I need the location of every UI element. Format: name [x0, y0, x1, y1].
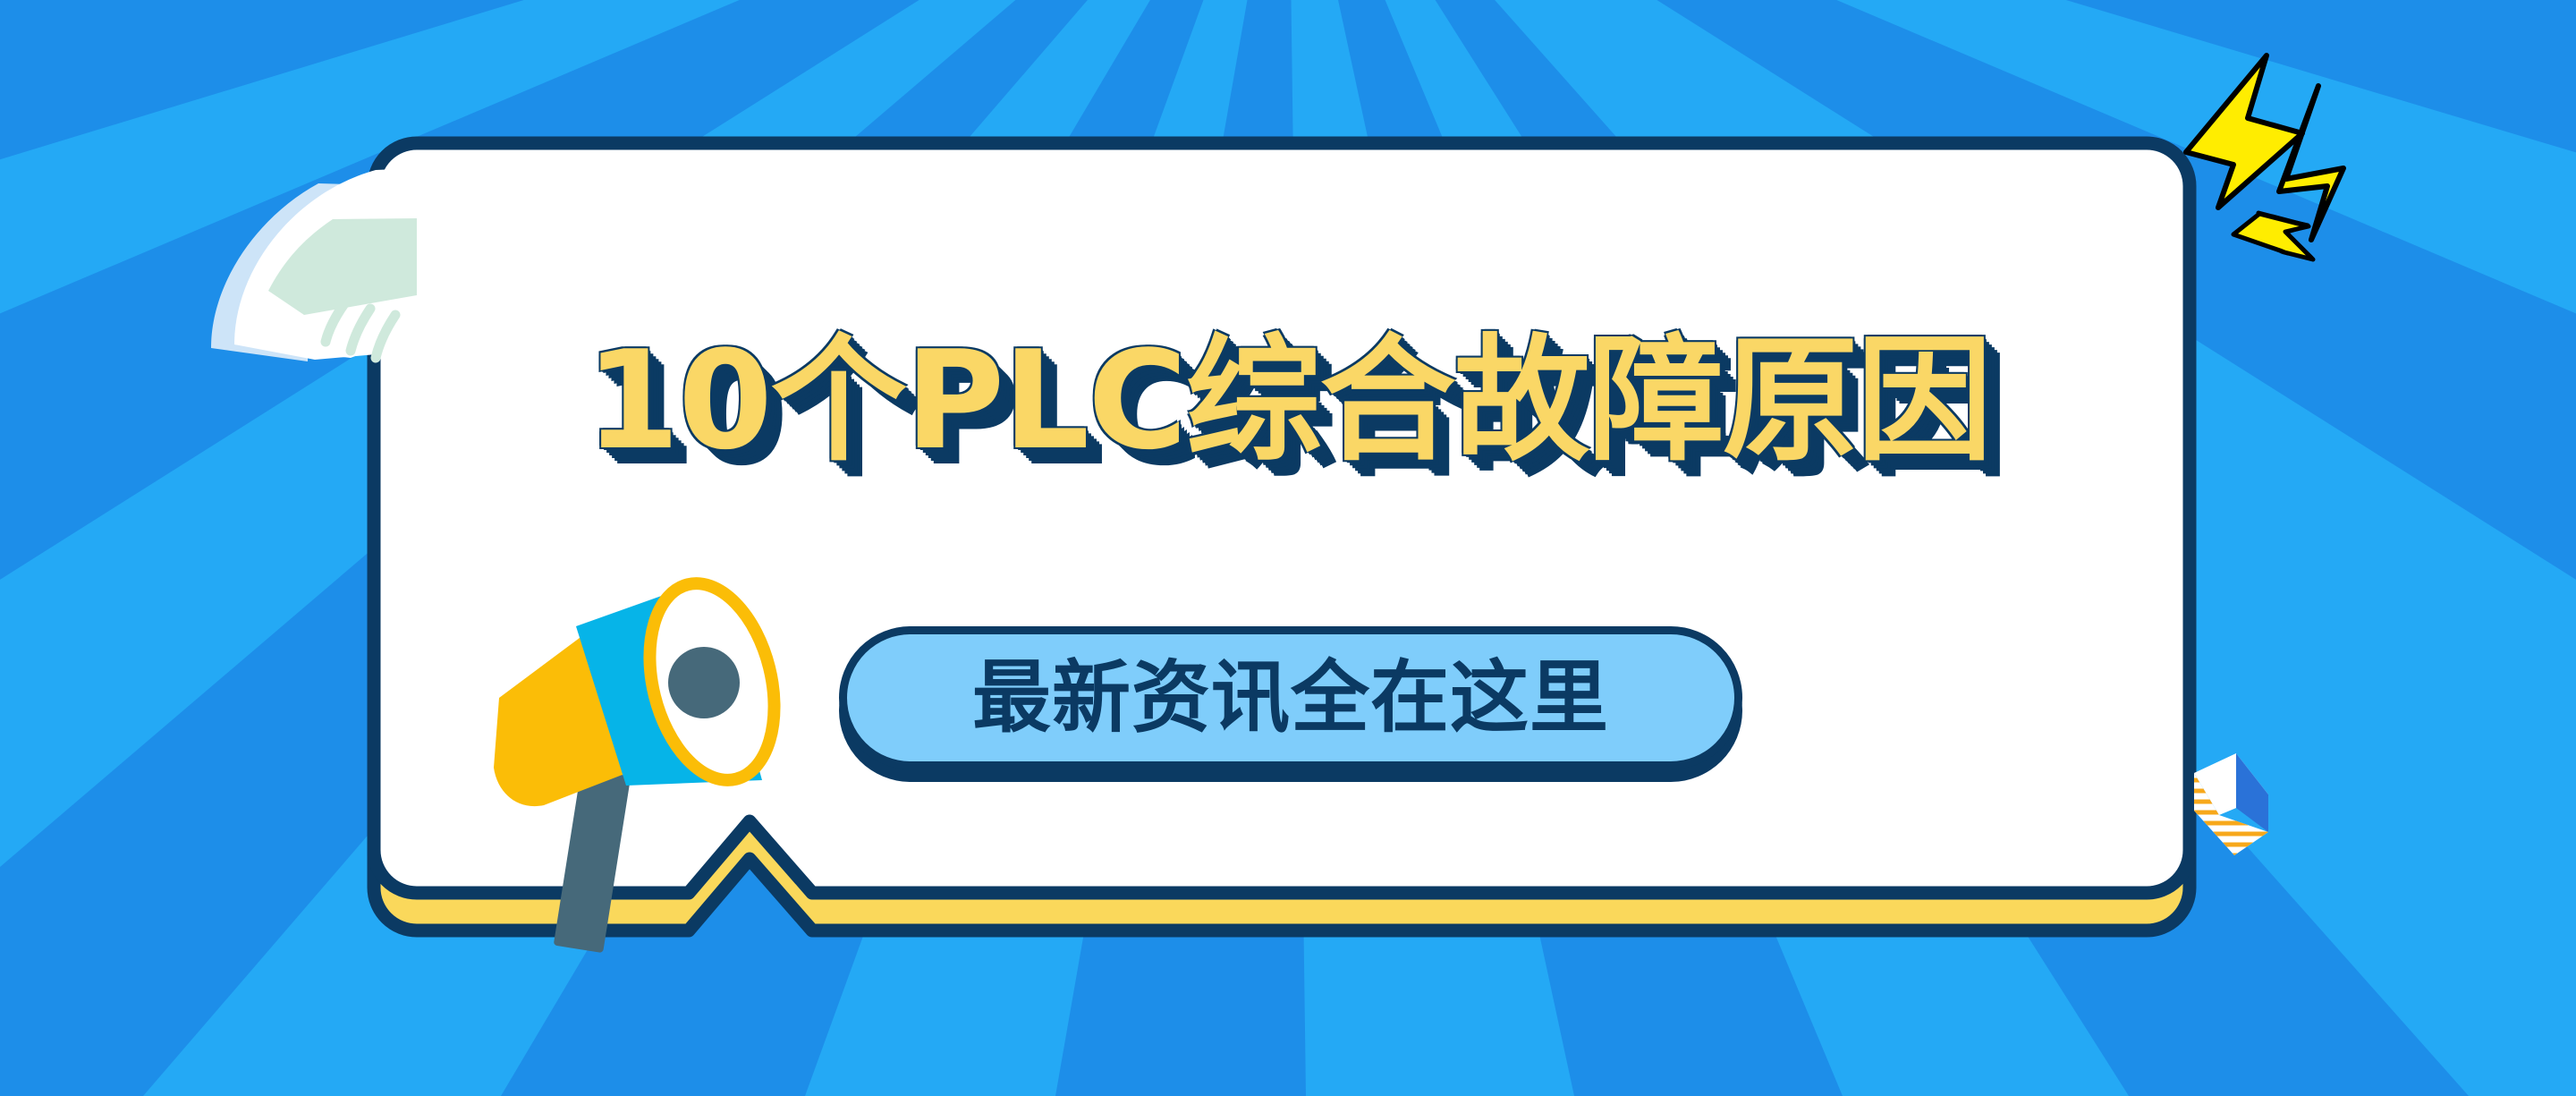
lightning-bolt-small-icon: [2233, 213, 2313, 259]
poster-canvas: 10个PLC综合故障原因 最新资讯全在这里: [0, 0, 2576, 1096]
curled-paper-icon: [211, 168, 420, 361]
megaphone-dot: [668, 647, 740, 718]
lightning-bolt-icon-2: [2279, 86, 2343, 240]
subtitle-pill-text: 最新资讯全在这里: [972, 658, 1609, 737]
megaphone-icon: [494, 570, 793, 953]
decoration-layer: [0, 0, 2576, 1096]
subtitle-pill: 最新资讯全在这里: [839, 626, 1742, 769]
cube-right-face: [2236, 753, 2268, 832]
cube-3d-icon: [2182, 753, 2281, 868]
